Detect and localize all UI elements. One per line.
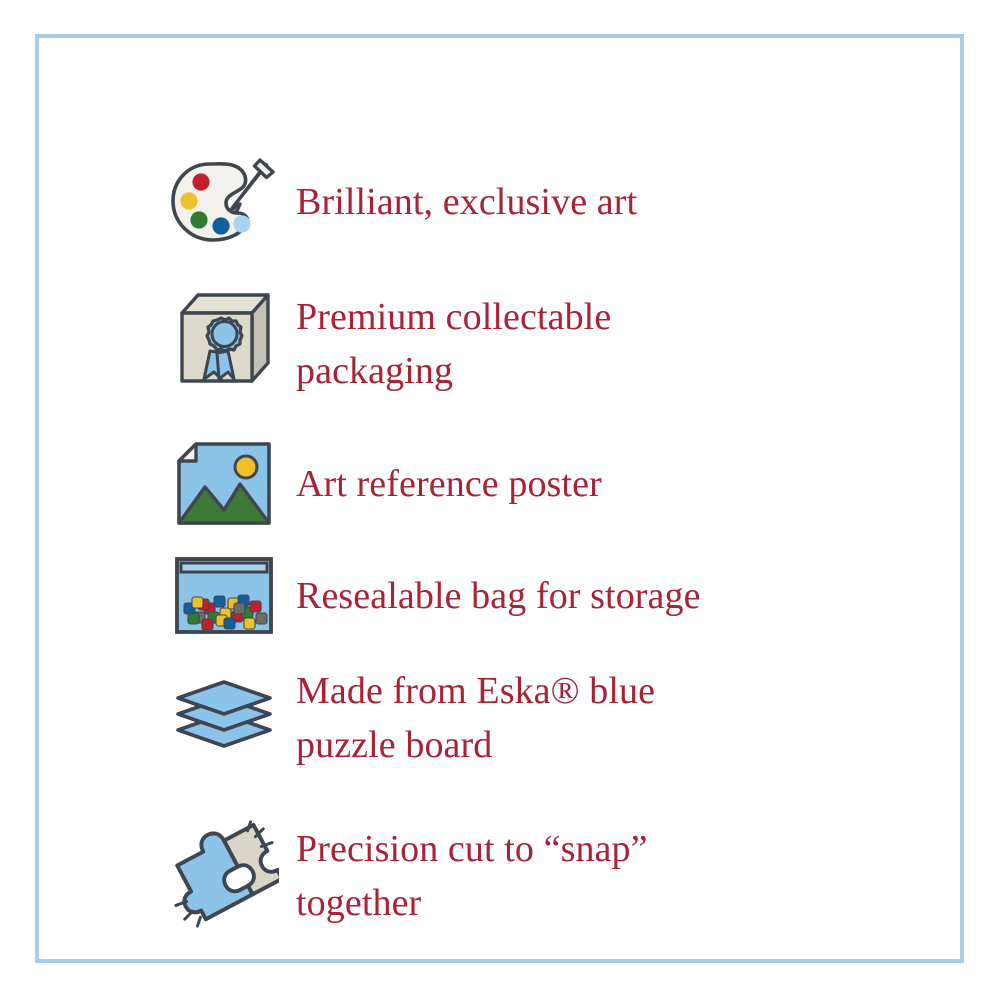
feature-label: Premium collectable packaging xyxy=(279,284,611,398)
feature-label: Brilliant, exclusive art xyxy=(279,154,637,229)
feature-item: Brilliant, exclusive art xyxy=(169,154,637,250)
puzzle-pieces-snap-icon xyxy=(169,814,279,934)
feature-label: Made from Eska® blue puzzle board xyxy=(279,664,655,772)
feature-label: Resealable bag for storage xyxy=(279,550,701,623)
feature-item: Precision cut to “snap” together xyxy=(169,814,648,934)
feature-item: Premium collectable packaging xyxy=(169,284,611,398)
gift-box-award-icon xyxy=(169,284,279,392)
feature-label: Precision cut to “snap” together xyxy=(279,814,648,930)
paint-palette-icon xyxy=(169,154,279,250)
feature-item: Made from Eska® blue puzzle board xyxy=(169,664,655,772)
poster-image-icon xyxy=(169,436,279,532)
feature-item: Art reference poster xyxy=(169,436,602,532)
feature-card: Brilliant, exclusive art xyxy=(35,34,964,963)
resealable-bag-icon xyxy=(169,550,279,642)
feature-item: Resealable bag for storage xyxy=(169,550,701,642)
feature-label: Art reference poster xyxy=(279,436,602,511)
stacked-layers-icon xyxy=(169,664,279,764)
